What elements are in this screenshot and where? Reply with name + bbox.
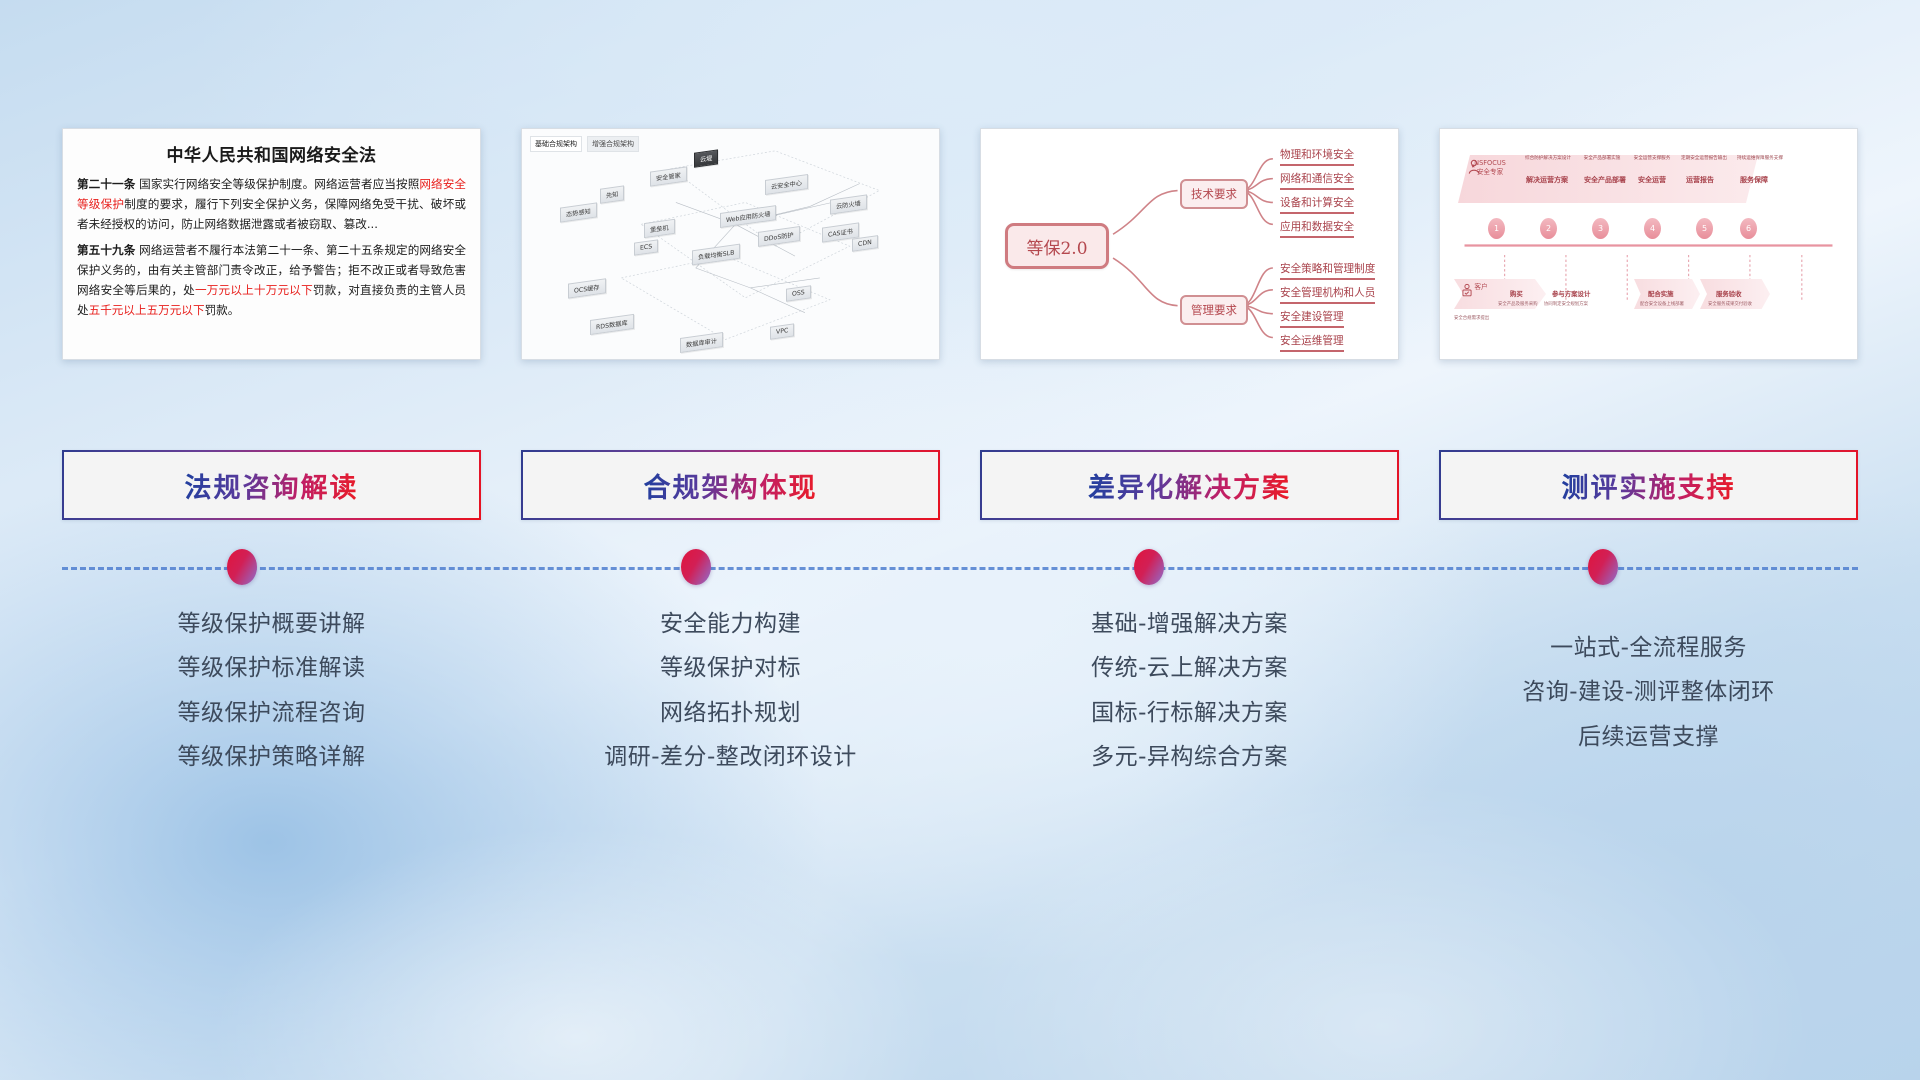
roadmap-customer-block: 客户 <box>1460 283 1502 292</box>
roadmap-inner: NSFOCUS 安全专家 综合防护解决方案设计 安全产品部署实施 安全运营支撑服… <box>1448 137 1849 351</box>
top-card-row: 中华人民共和国网络安全法 第二十一条 国家实行网络安全等级保护制度。网络运营者应… <box>62 128 1858 360</box>
list-item: 传统-云上解决方案 <box>1091 652 1288 685</box>
mindmap-branch-technical: 技术要求 <box>1180 179 1248 209</box>
card-cybersecurity-law[interactable]: 中华人民共和国网络安全法 第二十一条 国家实行网络安全等级保护制度。网络运营者应… <box>62 128 481 360</box>
list-item: 国标-行标解决方案 <box>1091 697 1288 730</box>
article-21-label: 第二十一条 <box>77 177 135 191</box>
section-header-compliance-architecture[interactable]: 合规架构体现 <box>521 450 940 520</box>
mindmap-leaf-policy-system: 安全策略和管理制度 <box>1280 261 1375 280</box>
mindmap-leaf-app-data: 应用和数据安全 <box>1280 219 1354 238</box>
roadmap-customer-sub: 安全合规需求提出 <box>1454 315 1489 321</box>
list-item: 等级保护标准解读 <box>178 652 366 685</box>
section-header-label-2: 差异化解决方案 <box>1088 466 1291 505</box>
article-59-label: 第五十九条 <box>77 243 135 257</box>
roadmap-bottom-main-3: 服务验收 <box>1716 289 1742 298</box>
roadmap-step-1: 1 <box>1488 218 1505 239</box>
mindmap: 等保2.0 技术要求 管理要求 物理和环境安全 网络和通信安全 设备和计算安全 … <box>981 129 1398 359</box>
timeline-marker-1 <box>681 549 711 585</box>
article-59-text-c: 罚款。 <box>205 303 240 317</box>
section-header-label-0: 法规咨询解读 <box>185 466 359 505</box>
list-item: 后续运营支撑 <box>1578 721 1719 754</box>
mindmap-leaf-ops-mgmt: 安全运维管理 <box>1280 333 1344 352</box>
roadmap-step-4: 4 <box>1644 218 1661 239</box>
section-list-differentiated-solution: 基础-增强解决方案 传统-云上解决方案 国标-行标解决方案 多元-异构综合方案 <box>980 600 1399 774</box>
law-article-21: 第二十一条 国家实行网络安全等级保护制度。网络运营者应当按照网络安全等级保护制度… <box>77 175 466 235</box>
section-header-regulation-consulting[interactable]: 法规咨询解读 <box>62 450 481 520</box>
mindmap-leaf-network-comm: 网络和通信安全 <box>1280 171 1354 190</box>
roadmap-bottom-main-1: 参与方案设计 <box>1552 289 1590 298</box>
section-list-regulation-consulting: 等级保护概要讲解 等级保护标准解读 等级保护流程咨询 等级保护策略详解 <box>62 600 481 774</box>
section-list-assessment-support: 一站式-全流程服务 咨询-建设-测评整体闭环 后续运营支撑 <box>1439 600 1858 774</box>
article-21-text-a: 国家实行网络安全等级保护制度。网络运营者应当按照 <box>135 177 419 191</box>
card-compliance-architecture[interactable]: 基础合规架构 增强合规架构 <box>521 128 940 360</box>
mindmap-branch-management: 管理要求 <box>1180 295 1248 325</box>
card-mindmap-dengbao[interactable]: 等保2.0 技术要求 管理要求 物理和环境安全 网络和通信安全 设备和计算安全 … <box>980 128 1399 360</box>
timeline <box>62 567 1858 569</box>
article-59-highlight-2: 五千元以上五万元以下 <box>89 303 205 317</box>
section-header-differentiated-solution[interactable]: 差异化解决方案 <box>980 450 1399 520</box>
roadmap-step-2: 2 <box>1540 218 1557 239</box>
section-list-row: 等级保护概要讲解 等级保护标准解读 等级保护流程咨询 等级保护策略详解 安全能力… <box>62 600 1858 774</box>
roadmap-bottom-sub-1: 协同制定安全规划方案 <box>1544 301 1588 307</box>
list-item: 咨询-建设-测评整体闭环 <box>1522 676 1775 709</box>
roadmap-timeline-svg <box>1448 137 1849 360</box>
list-item: 多元-异构综合方案 <box>1091 741 1288 774</box>
mindmap-root: 等保2.0 <box>1005 223 1109 269</box>
list-item: 一站式-全流程服务 <box>1550 632 1747 665</box>
article-21-text-b: 制度的要求，履行下列安全保护义务，保障网络免受干扰、破坏或者未经授权的访问，防止… <box>77 197 466 231</box>
section-header-label-1: 合规架构体现 <box>644 466 818 505</box>
section-header-row: 法规咨询解读 合规架构体现 差异化解决方案 测评实施支持 <box>62 450 1858 520</box>
architecture-diagram: 基础合规架构 增强合规架构 <box>522 129 939 359</box>
roadmap-step-3: 3 <box>1592 218 1609 239</box>
law-document: 中华人民共和国网络安全法 第二十一条 国家实行网络安全等级保护制度。网络运营者应… <box>63 129 480 335</box>
timeline-marker-2 <box>1134 549 1164 585</box>
roadmap: NSFOCUS 安全专家 综合防护解决方案设计 安全产品部署实施 安全运营支撑服… <box>1440 129 1857 359</box>
mindmap-leaf-construction-mgmt: 安全建设管理 <box>1280 309 1344 328</box>
list-item: 安全能力构建 <box>660 608 801 641</box>
roadmap-step-5: 5 <box>1696 218 1713 239</box>
roadmap-bottom-main-0: 购买 <box>1510 289 1523 298</box>
list-item: 等级保护概要讲解 <box>178 608 366 641</box>
roadmap-bottom-sub-0: 安全产品及服务采购 <box>1498 301 1538 307</box>
section-header-assessment-support[interactable]: 测评实施支持 <box>1439 450 1858 520</box>
timeline-marker-3 <box>1588 549 1618 585</box>
roadmap-step-6: 6 <box>1740 218 1757 239</box>
card-service-roadmap[interactable]: NSFOCUS 安全专家 综合防护解决方案设计 安全产品部署实施 安全运营支撑服… <box>1439 128 1858 360</box>
list-item: 网络拓扑规划 <box>660 697 801 730</box>
mindmap-leaf-org-personnel: 安全管理机构和人员 <box>1280 285 1375 304</box>
law-article-59: 第五十九条 网络运营者不履行本法第二十一条、第二十五条规定的网络安全保护义务的，… <box>77 241 466 321</box>
slide-stage: 中华人民共和国网络安全法 第二十一条 国家实行网络安全等级保护制度。网络运营者应… <box>0 0 1920 1080</box>
customer-check-icon <box>1460 283 1474 297</box>
roadmap-bottom-sub-3: 安全服务成果交付验收 <box>1708 301 1752 307</box>
list-item: 等级保护流程咨询 <box>178 697 366 730</box>
list-item: 基础-增强解决方案 <box>1091 608 1288 641</box>
mindmap-leaf-device-compute: 设备和计算安全 <box>1280 195 1354 214</box>
section-list-compliance-architecture: 安全能力构建 等级保护对标 网络拓扑规划 调研-差分-整改闭环设计 <box>521 600 940 774</box>
mindmap-leaf-physical-env: 物理和环境安全 <box>1280 147 1354 166</box>
article-59-highlight-1: 一万元以上十万元以下 <box>195 283 313 297</box>
timeline-marker-0 <box>227 549 257 585</box>
roadmap-bottom-sub-2: 配合安全设备上线部署 <box>1640 301 1684 307</box>
list-item: 等级保护策略详解 <box>178 741 366 774</box>
list-item: 调研-差分-整改闭环设计 <box>604 741 857 774</box>
law-title: 中华人民共和国网络安全法 <box>77 141 466 166</box>
section-header-label-3: 测评实施支持 <box>1562 466 1736 505</box>
roadmap-bottom-main-2: 配合实施 <box>1648 289 1674 298</box>
list-item: 等级保护对标 <box>660 652 801 685</box>
